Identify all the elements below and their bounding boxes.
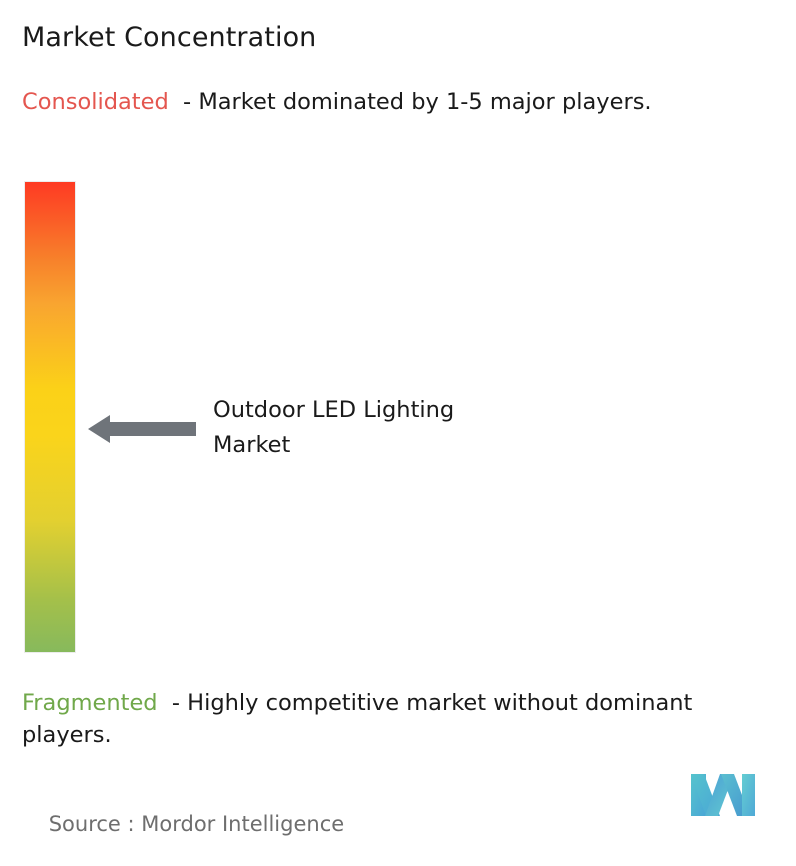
legend-separator-top: -	[169, 89, 199, 115]
legend-separator-bottom: -	[158, 690, 188, 716]
market-concentration-infographic: { "header": { "title": "Market Concentra…	[0, 0, 796, 834]
concentration-gradient-scale	[25, 182, 75, 652]
market-label-line-2: Market	[213, 428, 558, 463]
legend-term-fragmented: Fragmented	[22, 690, 158, 716]
legend-term-consolidated: Consolidated	[22, 89, 169, 115]
legend-fragmented: Fragmented - Highly competitive market w…	[22, 687, 788, 751]
market-label: Outdoor LED Lighting Market	[213, 393, 558, 463]
legend-consolidated: Consolidated - Market dominated by 1-5 m…	[22, 86, 782, 118]
market-position-callout: Outdoor LED Lighting Market	[88, 393, 558, 471]
source-label: Source :	[49, 812, 142, 836]
legend-description-consolidated: Market dominated by 1-5 major players.	[198, 89, 651, 115]
arrow-left-icon	[88, 411, 196, 447]
source-attribution: Source : Mordor Intelligence	[22, 782, 344, 866]
source-value: Mordor Intelligence	[141, 812, 344, 836]
page-title: Market Concentration	[22, 21, 316, 55]
mordor-intelligence-logo-icon	[690, 772, 756, 818]
footer: Source : Mordor Intelligence	[0, 770, 796, 834]
market-label-line-1: Outdoor LED Lighting	[213, 393, 558, 428]
